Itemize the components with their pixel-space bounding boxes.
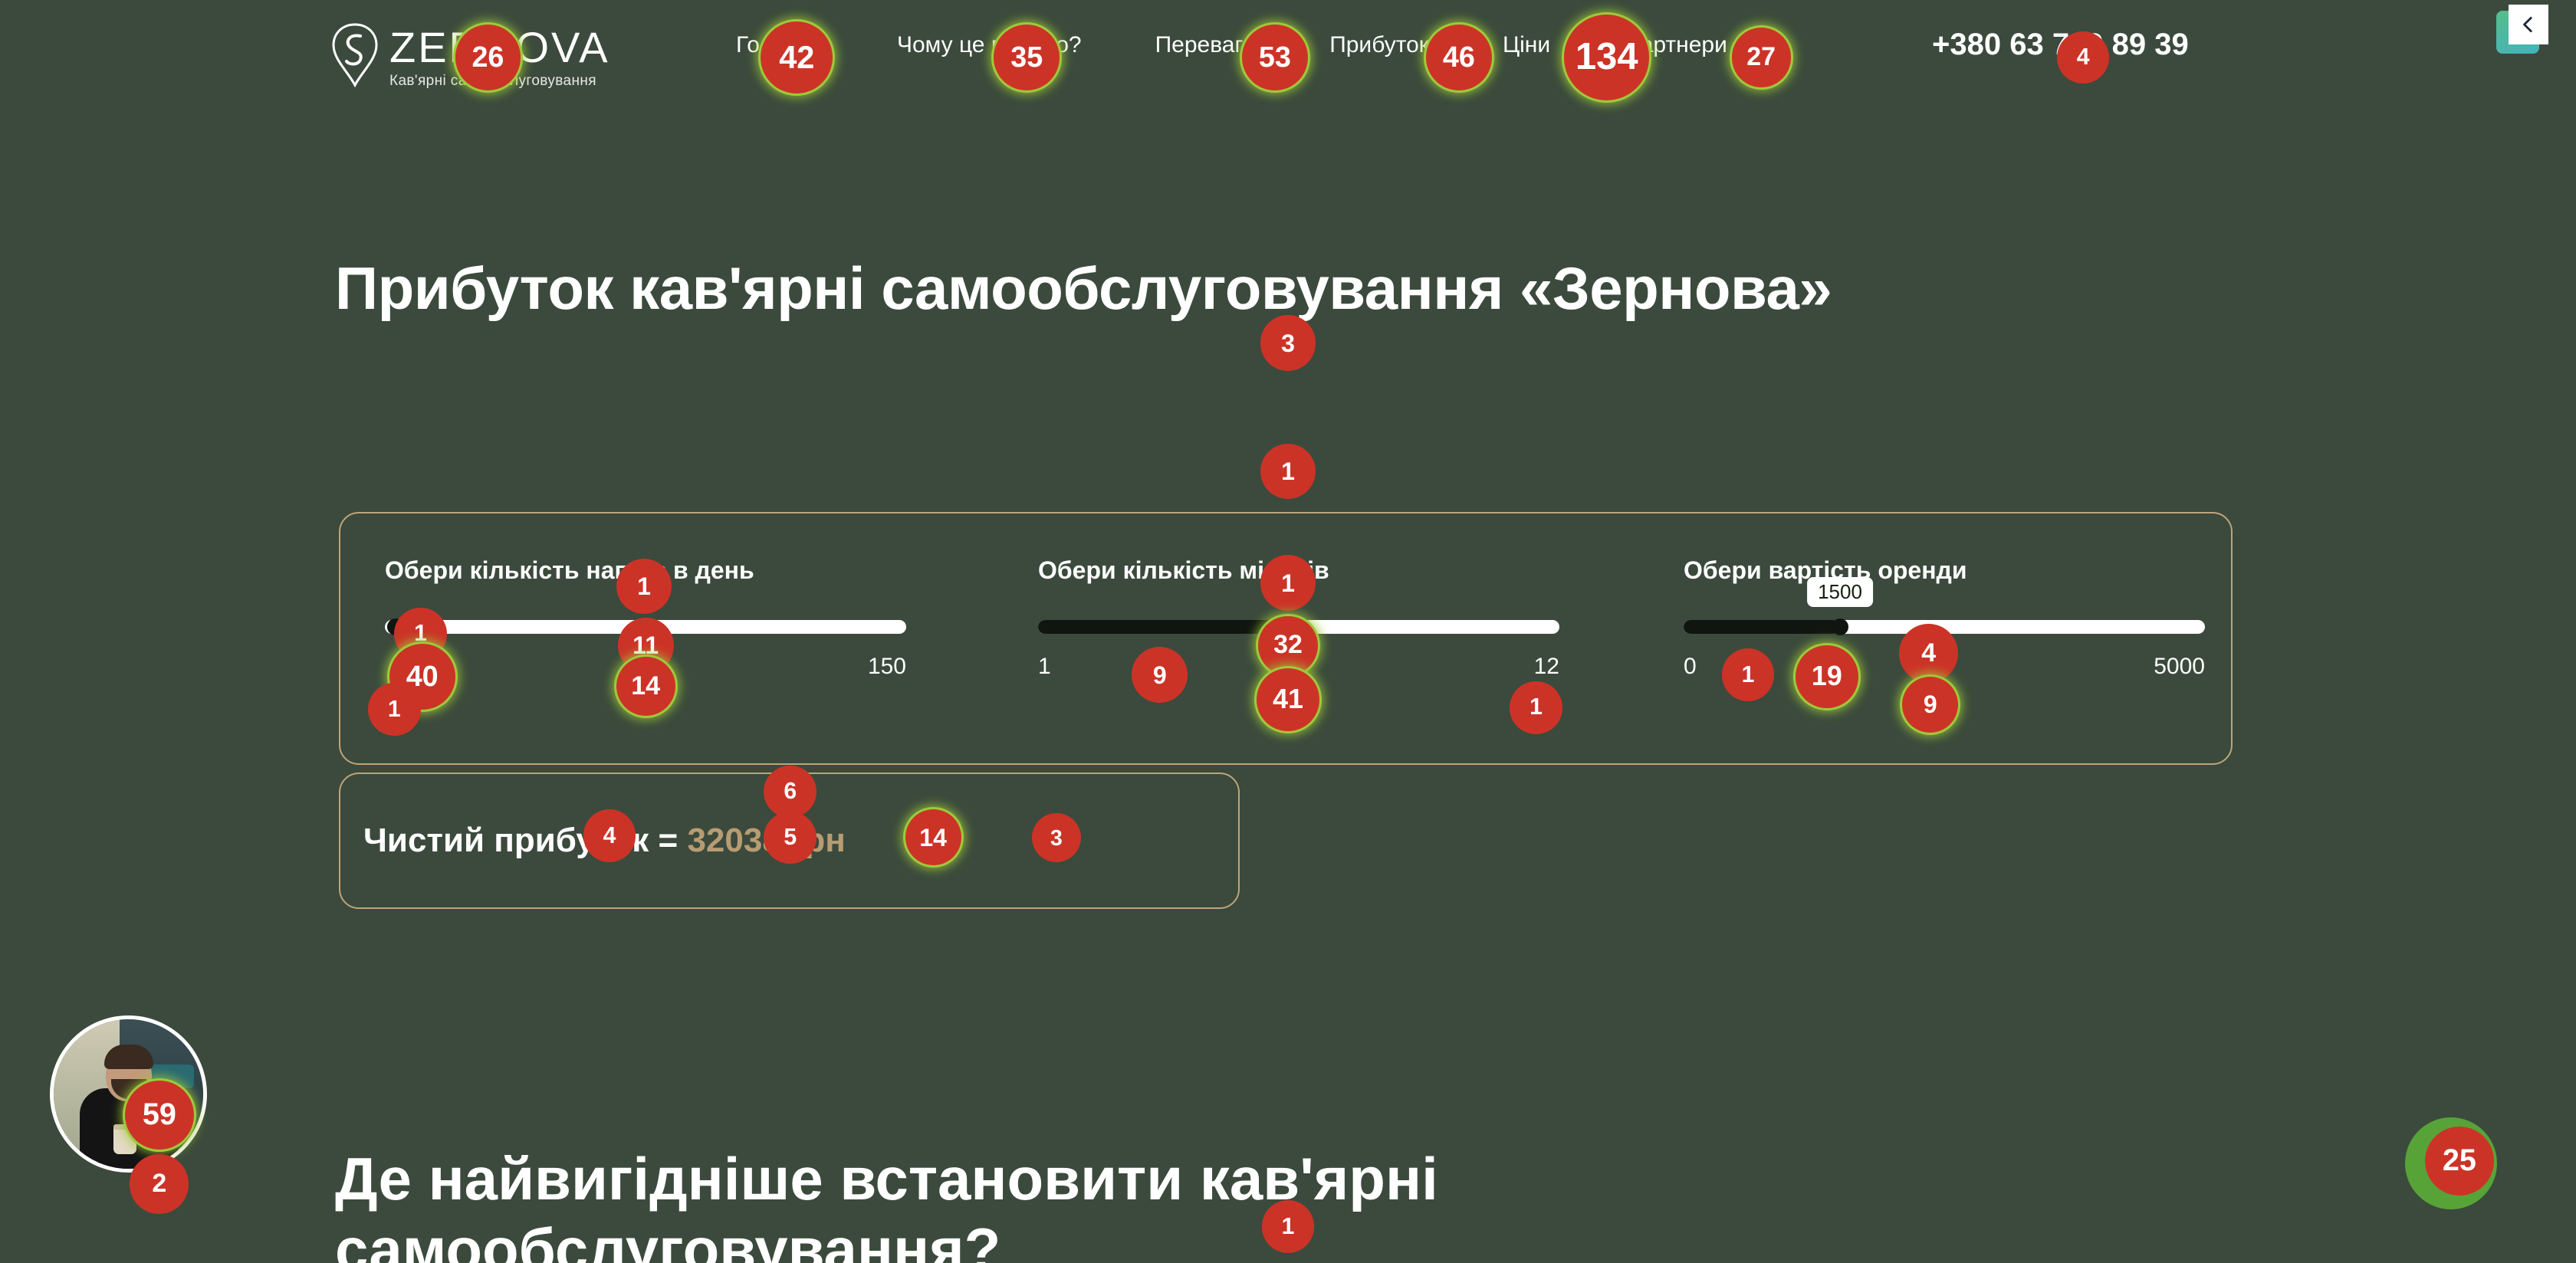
overlay-marker: 2 xyxy=(130,1154,189,1213)
overlay-marker: 6 xyxy=(764,766,816,818)
overlay-marker: 14 xyxy=(616,657,675,716)
video-person-hair xyxy=(104,1045,153,1069)
slider-max-label: 150 xyxy=(868,654,906,680)
overlay-marker: 4 xyxy=(2057,31,2110,84)
slider-min-label: 1 xyxy=(1038,654,1051,680)
slider-fill xyxy=(1684,620,1840,634)
slider-max-label: 12 xyxy=(1534,654,1559,680)
page-title: Прибуток кав'ярні самообслуговування «Зе… xyxy=(335,253,2022,323)
nav-item-prices[interactable]: Ціни xyxy=(1503,32,1550,58)
overlay-marker: 19 xyxy=(1796,645,1858,707)
overlay-marker: 42 xyxy=(761,21,833,93)
overlay-marker: 134 xyxy=(1564,15,1649,100)
overlay-marker: 1 xyxy=(368,683,421,736)
overlay-marker: 25 xyxy=(2425,1127,2494,1196)
slider-label-rent: Обери вартість оренди xyxy=(1684,556,2205,585)
collapse-widget xyxy=(2496,5,2548,54)
slider-max-label: 5000 xyxy=(2154,654,2205,680)
overlay-marker: 26 xyxy=(455,25,521,90)
overlay-marker: 32 xyxy=(1258,616,1317,675)
overlay-marker: 3 xyxy=(1032,813,1081,862)
overlay-marker: 1 xyxy=(1722,648,1775,701)
collapse-panel-button[interactable] xyxy=(2509,5,2548,44)
overlay-marker: 1 xyxy=(1262,1200,1315,1253)
overlay-marker: 3 xyxy=(1260,315,1316,371)
overlay-marker: 4 xyxy=(583,809,636,862)
overlay-marker: 59 xyxy=(125,1081,194,1150)
overlay-marker: 1 xyxy=(1260,444,1316,500)
slider-fill xyxy=(1038,620,1293,634)
slider-tooltip: 1500 xyxy=(1807,577,1873,607)
logo-icon xyxy=(331,23,379,87)
nav-item-benefits[interactable]: Переваги xyxy=(1155,32,1257,58)
overlay-marker: 9 xyxy=(1902,677,1958,733)
overlay-marker: 14 xyxy=(905,809,961,865)
nav-item-profit[interactable]: Прибуток xyxy=(1329,32,1429,58)
slider-min-label: 0 xyxy=(1684,654,1697,680)
section-heading-location: Де найвигідніше встановити кав'ярні само… xyxy=(335,1143,1945,1263)
overlay-marker: 35 xyxy=(994,25,1060,90)
overlay-marker: 41 xyxy=(1257,668,1319,730)
overlay-marker: 27 xyxy=(1732,28,1791,87)
overlay-marker: 53 xyxy=(1242,25,1308,90)
overlay-marker: 5 xyxy=(764,812,816,864)
overlay-marker: 46 xyxy=(1426,25,1492,90)
overlay-marker: 1 xyxy=(1510,681,1562,734)
overlay-marker: 1 xyxy=(1260,555,1316,611)
chevron-left-icon xyxy=(2518,15,2538,34)
slider-thumb[interactable] xyxy=(1832,618,1848,635)
overlay-marker: 9 xyxy=(1132,647,1188,703)
